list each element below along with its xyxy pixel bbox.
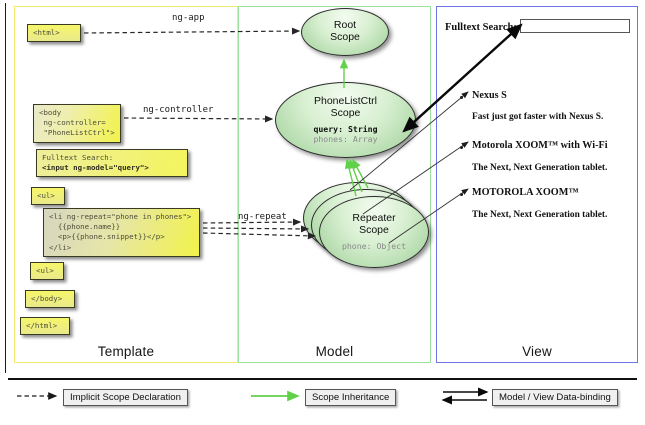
template-box-html-close: </html>	[20, 317, 70, 335]
phonelistctrl-scope-ellipse: PhoneListCtrl Scope query: String phones…	[275, 82, 416, 158]
repeater-prop-phone: phone: Object	[342, 241, 406, 251]
legend-divider	[8, 378, 637, 380]
panel-template	[14, 6, 238, 363]
view-bullet-1	[460, 96, 463, 99]
legend-glyph-double-arrow	[443, 392, 487, 400]
legend-item-implicit-scope-declaration: Implicit Scope Declaration	[63, 389, 188, 406]
view-item-name-3: MOTOROLA XOOM™	[472, 187, 579, 198]
legend-item-model-view-data-binding: Model / View Data-binding	[492, 389, 618, 406]
view-bullet-2	[460, 146, 463, 149]
legend-item-scope-inheritance: Scope Inheritance	[305, 389, 396, 406]
template-box-ul-close: <ul>	[30, 262, 64, 280]
panel-label-template: Template	[14, 344, 238, 359]
template-box-body-close: </body>	[25, 290, 75, 308]
template-box-search: Fulltext Search: <input ng-model="query"…	[36, 149, 188, 177]
template-search-input-code: <input ng-model="query">	[42, 163, 149, 172]
view-bullet-3	[460, 193, 463, 196]
template-box-li-repeat: <li ng-repeat="phone in phones"> {{phone…	[43, 208, 200, 257]
diagram-canvas: <html> <body ng-controller= "PhoneListCt…	[0, 0, 645, 425]
template-search-label: Fulltext Search:	[42, 153, 113, 162]
view-item-snippet-2: The Next, Next Generation tablet.	[472, 163, 607, 173]
view-item-name-1: Nexus S	[472, 90, 507, 101]
repeater-scope-title-2: Scope	[352, 225, 395, 237]
view-search-input[interactable]	[520, 19, 630, 33]
template-box-body-open: <body ng-controller= "PhoneListCtrl">	[33, 104, 121, 143]
view-item-snippet-3: The Next, Next Generation tablet.	[472, 210, 607, 220]
template-box-html-open: <html>	[27, 24, 81, 42]
view-search-label: Fulltext Search:	[445, 22, 517, 33]
root-scope-ellipse: Root Scope	[301, 8, 389, 56]
phonelistctrl-scope-title-1: PhoneListCtrl	[314, 96, 377, 108]
phonelistctrl-prop-phones: phones: Array	[313, 134, 377, 144]
view-content: Fulltext Search: Nexus S Fast just got f…	[436, 6, 638, 363]
panel-label-model: Model	[238, 344, 431, 359]
view-item-name-2: Motorola XOOM™ with Wi-Fi	[472, 140, 608, 151]
view-item-snippet-1: Fast just got faster with Nexus S.	[472, 112, 603, 122]
phonelistctrl-prop-query: query: String	[313, 124, 377, 134]
root-scope-title-2: Scope	[330, 32, 360, 44]
panel-label-view: View	[436, 344, 638, 359]
left-edge-rule	[5, 3, 6, 373]
template-box-ul-open: <ul>	[31, 187, 65, 205]
phonelistctrl-scope-title-2: Scope	[314, 108, 377, 120]
repeater-scope-ellipse-front: Repeater Scope phone: Object	[319, 196, 429, 268]
